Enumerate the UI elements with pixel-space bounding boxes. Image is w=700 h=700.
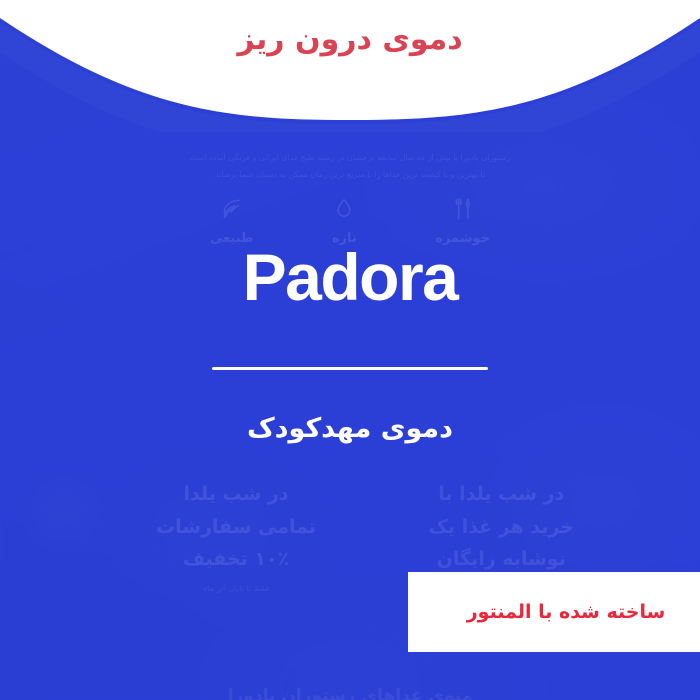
feature-item-delicious: خوشمزه [435, 196, 490, 246]
ghost-promo-left-line-1: در شب یلدا با [428, 478, 574, 511]
leaf-icon [219, 196, 245, 222]
ribbon-label: ساخته شده با المنتور [443, 601, 666, 623]
hero-block: Padora دموی مهدکودک [0, 244, 700, 444]
droplet-icon [331, 196, 357, 222]
brand-name: Padora [0, 244, 700, 310]
ghost-intro-line-1: رستوران پادورا با بیش از ده سال سابقه در… [0, 150, 700, 167]
ghost-promo-left-line-2: خرید هر غذا یک [428, 511, 574, 544]
promo-card: خرید آنلاین غذا رستوران پادورا با بیش از… [0, 0, 700, 700]
made-with-elementor-ribbon: ساخته شده با المنتور [408, 572, 700, 652]
ghost-promo-right-line-3: ۱۰٪ تخفیف [156, 543, 316, 576]
ghost-promo-right-note: فقط تا پایان آذر ماه [156, 582, 316, 596]
header-arc-graphic [0, 0, 700, 132]
hero-subtitle: دموی مهدکودک [0, 413, 700, 444]
feature-item-natural: طبیعی [210, 196, 253, 246]
header-title: دموی درون ریز [0, 22, 700, 57]
feature-item-fresh: تازه [331, 196, 357, 246]
ghost-promo-right-line-1: در شب یلدا [156, 478, 316, 511]
ghost-intro-line-2: تا بهترین و با کیفیت ترین غذاها را با سر… [0, 167, 700, 184]
hero-divider [212, 367, 488, 370]
ghost-bottom-text: منوی غذاهای رستوران پادورا [0, 686, 700, 700]
cutlery-icon [450, 196, 476, 222]
ghost-promo-right-line-2: تمامی سفارشات [156, 511, 316, 544]
ghost-promo-right: در شب یلدا تمامی سفارشات ۱۰٪ تخفیف فقط ت… [156, 478, 316, 596]
ghost-intro-paragraph: رستوران پادورا با بیش از ده سال سابقه در… [0, 150, 700, 184]
feature-row: طبیعی تازه خوشمزه [0, 196, 700, 246]
